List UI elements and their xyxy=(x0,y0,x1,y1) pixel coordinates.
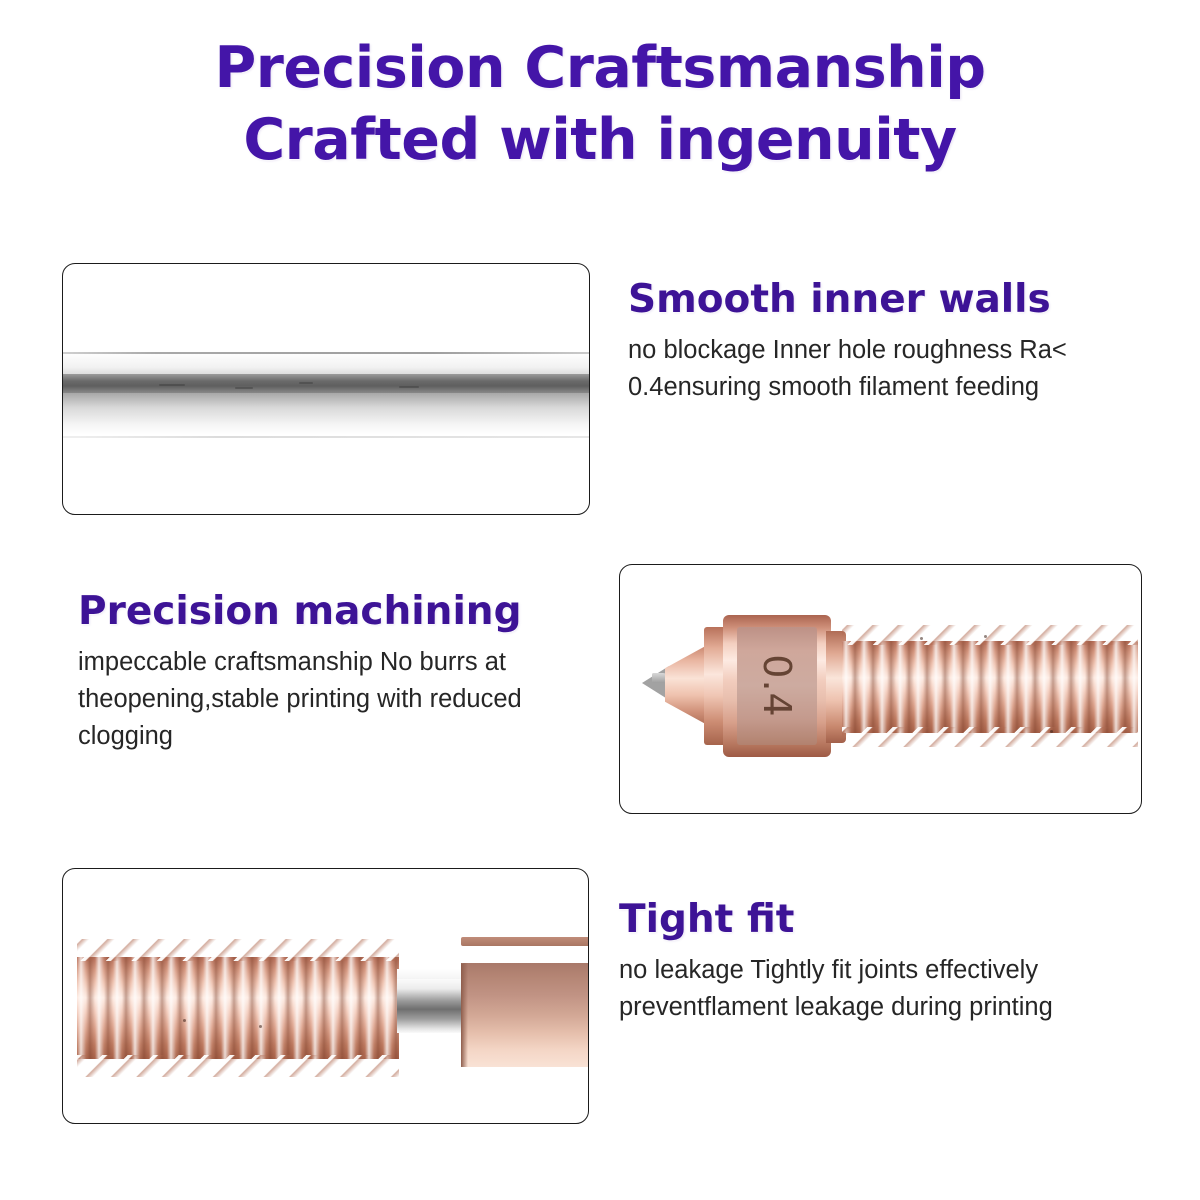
bore-lower-gradient xyxy=(62,393,590,435)
feature-text-smooth-inner-walls: Smooth inner walls no blockage Inner hol… xyxy=(628,275,1148,406)
copper-barrel-lip xyxy=(461,937,589,946)
smooth-bore-illustration xyxy=(63,264,589,514)
surface-fleck xyxy=(259,1025,262,1028)
bore-speck xyxy=(159,384,185,386)
page-title: Precision Craftsmanship Crafted with ing… xyxy=(0,34,1200,174)
title-line-1: Precision Craftsmanship xyxy=(0,34,1200,102)
feature-heading-tight-fit: Tight fit xyxy=(619,895,1164,945)
nozzle-tip-cone-icon xyxy=(642,666,669,700)
surface-fleck xyxy=(920,637,923,640)
feature-body-smooth-inner-walls: no blockage Inner hole roughness Ra< 0.4… xyxy=(628,332,1148,406)
copper-nozzle-illustration: 0.4 xyxy=(620,565,1141,813)
feature-image-panel-precision-machining: 0.4 xyxy=(619,564,1142,814)
nozzle-thread-crest-top xyxy=(842,625,1138,645)
title-line-2: Crafted with ingenuity xyxy=(0,106,1200,174)
feature-heading-precision-machining: Precision machining xyxy=(78,587,623,637)
nozzle-thread-grooves xyxy=(842,641,1138,733)
bore-speck xyxy=(235,387,253,389)
fit-thread-crest-bottom xyxy=(77,1055,399,1077)
surface-fleck xyxy=(984,635,987,638)
bore-core-shadow xyxy=(62,374,590,394)
bore-upper-surface xyxy=(62,354,590,376)
nozzle-size-engraving: 0.4 xyxy=(718,646,836,726)
feature-body-tight-fit: no leakage Tightly fit joints effectivel… xyxy=(619,952,1164,1026)
bore-speck xyxy=(399,386,419,388)
tight-fit-illustration xyxy=(63,869,588,1123)
feature-body-precision-machining: impeccable craftsmanship No burrs at the… xyxy=(78,644,623,755)
surface-fleck xyxy=(1050,730,1053,733)
nozzle-thread-crest-bottom xyxy=(842,727,1138,747)
fit-thread-crest-top xyxy=(77,939,399,961)
feature-image-panel-smooth-inner-walls xyxy=(62,263,590,515)
feature-text-precision-machining: Precision machining impeccable craftsman… xyxy=(78,587,623,755)
feature-heading-smooth-inner-walls: Smooth inner walls xyxy=(628,275,1148,325)
feature-text-tight-fit: Tight fit no leakage Tightly fit joints … xyxy=(619,895,1164,1026)
fit-thread-grooves xyxy=(77,957,399,1059)
copper-barrel-left-edge-shadow xyxy=(461,963,468,1067)
bore-speck xyxy=(299,382,313,384)
feature-image-panel-tight-fit xyxy=(62,868,589,1124)
copper-barrel xyxy=(461,963,589,1067)
surface-fleck xyxy=(183,1019,186,1022)
bore-lower-edge-line xyxy=(62,436,590,438)
